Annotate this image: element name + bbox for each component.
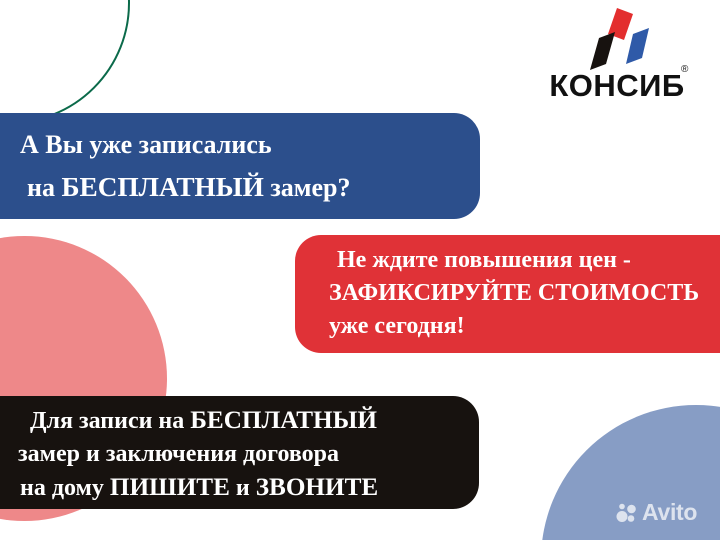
banner-blue-line-2: на БЕСПЛАТНЫЙ замер?	[20, 166, 480, 209]
banner-black-line-3-emphasis-write: ПИШИТЕ	[110, 474, 230, 501]
banner-black-line-1: Для записи на БЕСПЛАТНЫЙ	[18, 404, 479, 438]
avito-watermark: Avito	[616, 501, 697, 524]
avito-watermark-label: Avito	[642, 501, 697, 524]
banner-black-line-1-emphasis: БЕСПЛАТНЫЙ	[190, 407, 377, 434]
banner-blue-line-1: А Вы уже записались	[20, 124, 480, 166]
promo-poster: КОНСИБ ® А Вы уже записались на БЕСПЛАТН…	[0, 0, 720, 540]
banner-black-line-3-middle: и	[230, 475, 256, 501]
banner-red-line-2: ЗАФИКСИРУЙТЕ СТОИМОСТЬ	[329, 277, 720, 310]
banner-blue-line-2-suffix: замер?	[264, 173, 351, 202]
avito-dots-icon	[616, 502, 638, 524]
banner-blue-line-2-prefix: на	[27, 173, 61, 202]
brand-wordmark: КОНСИБ	[527, 68, 707, 104]
green-ring-decoration	[0, 0, 130, 124]
registered-trademark-symbol: ®	[681, 64, 688, 75]
banner-black-line-2: замер и заключения договора	[18, 438, 479, 471]
banner-red-line-3: уже сегодня!	[329, 310, 720, 343]
brand-logo: КОНСИБ ®	[527, 8, 707, 106]
banner-black-line-1-prefix: Для записи на	[30, 408, 190, 434]
banner-blue-question: А Вы уже записались на БЕСПЛАТНЫЙ замер?	[0, 113, 480, 219]
banner-black-line-3-emphasis-call: ЗВОНИТЕ	[256, 474, 378, 501]
banner-black-line-3-prefix: на дому	[20, 475, 110, 501]
banner-red-line-1: Не ждите повышения цен -	[329, 244, 720, 277]
banner-black-line-3: на дому ПИШИТЕ и ЗВОНИТЕ	[18, 471, 479, 505]
banner-black-call-to-action: Для записи на БЕСПЛАТНЫЙ замер и заключе…	[0, 396, 479, 509]
banner-blue-line-2-emphasis: БЕСПЛАТНЫЙ	[61, 172, 263, 202]
banner-red-urgency: Не ждите повышения цен - ЗАФИКСИРУЙТЕ СТ…	[295, 235, 720, 353]
konsib-logo-mark-icon	[585, 8, 655, 70]
